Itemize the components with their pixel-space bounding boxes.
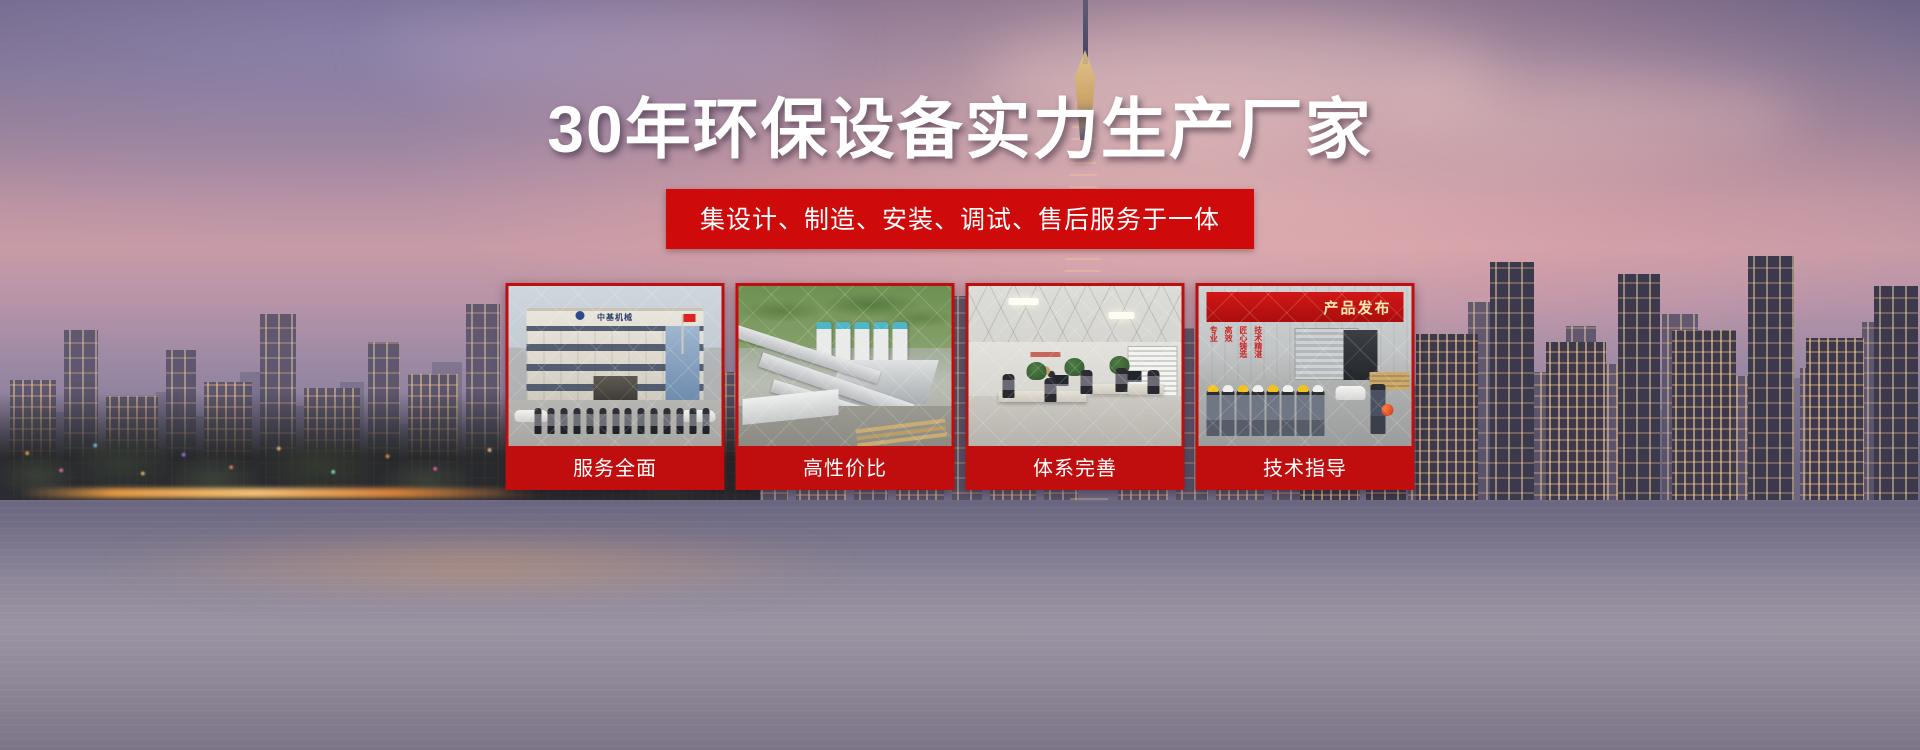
card-caption: 技术指导 bbox=[1199, 446, 1412, 487]
banner-content: 30年环保设备实力生产厂家 集设计、制造、安装、调试、售后服务于一体 中基机械 bbox=[0, 0, 1920, 750]
office-interior-photo bbox=[969, 286, 1182, 446]
worker-group bbox=[1207, 380, 1357, 436]
workshop-team-photo: 产品发布 专业 高效 匠心铸造 技术精湛 bbox=[1199, 286, 1412, 446]
staff-lineup bbox=[535, 404, 710, 434]
aerial-plant-photo bbox=[739, 286, 952, 446]
feature-card-row: 中基机械 服务全面 bbox=[506, 283, 1415, 490]
card-caption: 体系完善 bbox=[969, 446, 1182, 487]
feature-card[interactable]: 产品发布 专业 高效 匠心铸造 技术精湛 bbox=[1196, 283, 1415, 490]
card-caption: 服务全面 bbox=[509, 446, 722, 487]
hero-banner: 30年环保设备实力生产厂家 集设计、制造、安装、调试、售后服务于一体 中基机械 bbox=[0, 0, 1920, 750]
helmet-icon bbox=[1382, 404, 1394, 416]
feature-card[interactable]: 体系完善 bbox=[966, 283, 1185, 490]
wall-slogan: 匠心铸造 bbox=[1238, 326, 1247, 360]
wall-slogan-group: 专业 高效 匠心铸造 技术精湛 bbox=[1209, 326, 1295, 360]
workshop-banner: 产品发布 bbox=[1207, 292, 1404, 322]
ceiling-light bbox=[1009, 298, 1039, 305]
banner-headline: 30年环保设备实力生产厂家 bbox=[0, 96, 1920, 162]
banner-subtitle-bar: 集设计、制造、安装、调试、售后服务于一体 bbox=[666, 189, 1254, 249]
wall-slogan: 高效 bbox=[1223, 326, 1232, 360]
building-sign-text: 中基机械 bbox=[597, 312, 633, 323]
wall-slogan: 专业 bbox=[1209, 326, 1218, 360]
feature-card[interactable]: 中基机械 服务全面 bbox=[506, 283, 725, 490]
feature-card[interactable]: 高性价比 bbox=[736, 283, 955, 490]
wall-slogan: 技术精湛 bbox=[1253, 326, 1262, 360]
ceiling-light bbox=[1109, 312, 1135, 319]
workshop-banner-text: 产品发布 bbox=[1207, 292, 1404, 322]
company-headquarters-photo: 中基机械 bbox=[509, 286, 722, 446]
company-logo-mark bbox=[575, 311, 584, 320]
flag-icon bbox=[682, 314, 684, 354]
card-caption: 高性价比 bbox=[739, 446, 952, 487]
